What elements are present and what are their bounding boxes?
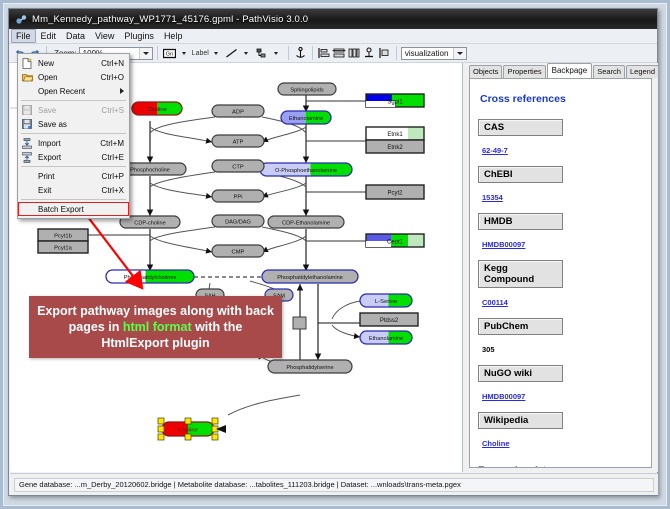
export-icon [20, 151, 34, 163]
menu-file[interactable]: File [11, 29, 36, 43]
svg-text:CDP-Ethanolamine: CDP-Ethanolamine [282, 221, 330, 227]
menu-item-open[interactable]: Open Ctrl+O [18, 70, 129, 84]
menu-item-open-recent[interactable]: Open Recent [18, 84, 129, 98]
menu-item-new-accel: Ctrl+N [101, 59, 124, 68]
callout-line-2a: pages in [69, 320, 123, 334]
menu-separator-2 [21, 133, 126, 134]
xref-value-kegg[interactable]: C00114 [482, 298, 508, 307]
svg-text:Cept1: Cept1 [387, 240, 404, 246]
interaction-dropdown-icon[interactable] [269, 46, 284, 61]
xref-value-cas[interactable]: 62-49-7 [482, 146, 508, 155]
toolbar-separator-4 [312, 46, 313, 60]
callout-line-2: pages in html format with the [69, 319, 243, 335]
blank-icon-3 [20, 184, 34, 196]
visualization-value: visualization [402, 49, 453, 58]
xref-value-wikipedia[interactable]: Choline [482, 439, 510, 448]
svg-text:Phosphatidylserine: Phosphatidylserine [286, 365, 333, 371]
menu-item-exit-label: Exit [38, 186, 102, 195]
blank-icon-4 [20, 203, 34, 215]
menu-plugins[interactable]: Plugins [119, 29, 159, 43]
svg-text:Ptdss2: Ptdss2 [380, 318, 399, 324]
menu-item-open-recent-label: Open Recent [38, 87, 120, 96]
file-menu-dropdown[interactable]: New Ctrl+N Open Ctrl+O Open Recent [17, 53, 130, 219]
toolbar-separator-2 [157, 46, 158, 60]
svg-text:O-Phosphoethanolamine: O-Phosphoethanolamine [275, 168, 337, 174]
tab-legend[interactable]: Legend [626, 65, 659, 78]
xref-header-kegg: Kegg Compound [478, 260, 563, 288]
chevron-down-icon[interactable] [139, 48, 152, 59]
svg-text:DAG/DAG: DAG/DAG [225, 220, 251, 226]
status-bar-inner: Gene database: ...m_Derby_20120602.bridg… [14, 478, 654, 492]
backpage-content: Cross references CAS 62-49-7 ChEBI 15354… [469, 78, 652, 468]
status-text: Gene database: ...m_Derby_20120602.bridg… [19, 480, 461, 489]
menu-item-import[interactable]: Import Ctrl+M [18, 136, 129, 150]
menu-item-new[interactable]: New Ctrl+N [18, 56, 129, 70]
gene-box-pcyt2: Pcyt2 [366, 185, 424, 199]
menu-separator-4 [21, 199, 126, 200]
gene-box-etnk2: Etnk2 [366, 140, 424, 153]
xref-value-pubchem: 305 [482, 345, 495, 354]
gene-box-cept1: Cept1 [366, 234, 424, 247]
svg-text:Etnk2: Etnk2 [387, 145, 403, 151]
node-atp: ATP [212, 135, 264, 147]
svg-text:L-Serine: L-Serine [375, 299, 397, 305]
svg-text:PPi: PPi [233, 195, 242, 201]
svg-text:CDP-choline: CDP-choline [134, 221, 165, 227]
menu-item-print-accel: Ctrl+P [102, 172, 124, 181]
xref-value-nugo[interactable]: HMDB00097 [482, 392, 525, 401]
gene-box-etnk1: Etnk1 [366, 127, 424, 140]
node-phosphatidylethanolamine: Phosphatidylethanolamine [262, 270, 358, 283]
callout-line-3: HtmlExport plugin [101, 335, 209, 351]
toolbar-separator-3 [288, 46, 289, 60]
svg-text:ADP: ADP [232, 110, 244, 116]
node-o-phosphoethanolamine: O-Phosphoethanolamine [260, 163, 352, 176]
pathvisio-icon [15, 13, 28, 26]
svg-text:Ethanolamine: Ethanolamine [289, 116, 323, 122]
menu-item-import-accel: Ctrl+M [100, 139, 124, 148]
status-bar: Gene database: ...m_Derby_20120602.bridg… [10, 473, 658, 495]
menu-separator-3 [21, 166, 126, 167]
svg-text:Etnk1: Etnk1 [387, 132, 403, 138]
new-file-icon [20, 57, 34, 69]
node-phosphatidylcholines: Phosphatidylcholines [106, 270, 194, 283]
callout-line-2b: with the [192, 320, 243, 334]
interaction-icon[interactable] [254, 46, 269, 61]
node-choline: Choline [132, 102, 182, 115]
svg-text:ATP: ATP [233, 140, 244, 146]
menu-item-exit-accel: Ctrl+X [102, 186, 124, 195]
node-cmp: CMP [212, 245, 264, 257]
pathvisio-window: Mm_Kennedy_pathway_WP1771_45176.gpml - P… [8, 8, 658, 496]
xref-header-chebi: ChEBI [478, 166, 563, 183]
xref-header-pubchem: PubChem [478, 318, 563, 335]
node-phosphatidylserine: Phosphatidylserine [268, 360, 352, 373]
svg-text:Ethanolamine: Ethanolamine [369, 336, 403, 342]
menu-item-export[interactable]: Export Ctrl+E [18, 150, 129, 164]
submenu-arrow-icon [120, 88, 124, 94]
svg-text:Pcyt1b: Pcyt1b [54, 234, 72, 240]
label-dropdown-icon[interactable] [209, 46, 224, 61]
svg-text:CMP: CMP [232, 250, 245, 256]
menu-item-export-label: Export [38, 153, 102, 162]
menu-item-print-label: Print [38, 172, 102, 181]
menu-item-batch-export-label: Batch Export [38, 205, 129, 214]
align-left-icon[interactable] [317, 46, 332, 61]
node-cdp-ethanolamine: CDP-Ethanolamine [268, 216, 344, 228]
menu-item-import-label: Import [38, 139, 100, 148]
menu-item-save-as[interactable]: Save as [18, 117, 129, 131]
gene-box-sgpl1: Sgpl1 [366, 94, 424, 107]
import-icon [20, 137, 34, 149]
tab-search[interactable]: Search [593, 65, 625, 78]
line-icon[interactable] [224, 46, 239, 61]
gene-box-ptdss2: Ptdss2 [360, 313, 418, 326]
align-middle-icon[interactable] [347, 46, 362, 61]
node-ethanolamine-top: Ethanolamine [281, 111, 331, 124]
node-choline-selected: Choline [158, 418, 226, 440]
datanode-icon[interactable]: Gn [162, 46, 177, 61]
side-panel: Objects Properties Backpage Search Legen… [463, 63, 658, 472]
xref-value-chebi[interactable]: 15354 [482, 193, 503, 202]
menu-item-save-label: Save [38, 106, 102, 115]
common-width-icon[interactable] [377, 46, 392, 61]
window-title: Mm_Kennedy_pathway_WP1771_45176.gpml - P… [32, 14, 308, 25]
svg-text:Phosphocholine: Phosphocholine [130, 168, 170, 174]
save-icon [20, 104, 34, 116]
folder-open-icon [20, 71, 34, 83]
menu-item-save-accel: Ctrl+S [102, 106, 124, 115]
menu-help[interactable]: Help [159, 29, 188, 43]
line-dropdown-icon[interactable] [239, 46, 254, 61]
menu-view[interactable]: View [90, 29, 119, 43]
title-bar: Mm_Kennedy_pathway_WP1771_45176.gpml - P… [9, 9, 657, 29]
xref-value-hmdb[interactable]: HMDB00097 [482, 240, 525, 249]
menu-separator-1 [21, 100, 126, 101]
node-ctp: CTP [212, 160, 264, 172]
callout-highlight: html format [123, 320, 192, 334]
menu-bar[interactable]: File Edit Data View Plugins Help [9, 29, 657, 44]
svg-text:Sgpl1: Sgpl1 [387, 100, 403, 106]
node-adp: ADP [212, 105, 264, 117]
label-tool-label: Label [192, 50, 209, 57]
tab-backpage[interactable]: Backpage [547, 63, 593, 78]
xref-header-nugo: NuGO wiki [478, 365, 563, 382]
xref-header-cas: CAS [478, 119, 563, 136]
align-center-icon[interactable] [332, 46, 347, 61]
menu-edit[interactable]: Edit [36, 29, 62, 43]
menu-item-save-as-label: Save as [38, 120, 124, 129]
chevron-down-icon-2[interactable] [453, 48, 466, 59]
menu-data[interactable]: Data [61, 29, 90, 43]
panel-tab-strip[interactable]: Objects Properties Backpage Search Legen… [463, 63, 658, 78]
svg-text:Pcyt2: Pcyt2 [387, 191, 403, 197]
svg-text:Phosphatidylcholines: Phosphatidylcholines [124, 275, 177, 281]
svg-text:Pcyt1a: Pcyt1a [54, 246, 72, 252]
anchor-icon[interactable] [293, 46, 308, 61]
expression-data-label: Expression data [478, 465, 643, 468]
menu-item-new-label: New [38, 59, 101, 68]
xref-header-wikipedia: Wikipedia [478, 412, 563, 429]
svg-text:CTP: CTP [232, 165, 244, 171]
menu-item-exit[interactable]: Exit Ctrl+X [18, 183, 129, 197]
menu-item-batch-export[interactable]: Batch Export [18, 202, 129, 216]
svg-text:Phosphatidylethanolamine: Phosphatidylethanolamine [277, 275, 343, 281]
xref-header-hmdb: HMDB [478, 213, 563, 230]
blank-icon-2 [20, 170, 34, 182]
tab-objects[interactable]: Objects [469, 65, 502, 78]
stack-icon[interactable] [362, 46, 377, 61]
node-sphingolipids: Sphingolipids [278, 83, 336, 95]
annotation-callout: Export pathway images along with back pa… [29, 296, 282, 358]
svg-text:Gn: Gn [165, 51, 172, 57]
gene-box-pcyt1a: Pcyt1a [38, 241, 88, 253]
cross-references-title: Cross references [480, 93, 643, 105]
menu-item-export-accel: Ctrl+E [102, 153, 124, 162]
tab-properties[interactable]: Properties [503, 65, 545, 78]
menu-item-save[interactable]: Save Ctrl+S [18, 103, 129, 117]
callout-line-1: Export pathway images along with back [37, 303, 274, 319]
save-as-icon [20, 118, 34, 130]
datanode-dropdown-icon[interactable] [177, 46, 192, 61]
node-l-serine: L-Serine [360, 294, 412, 307]
menu-item-print[interactable]: Print Ctrl+P [18, 169, 129, 183]
svg-text:Choline: Choline [178, 428, 198, 434]
gene-box-pcyt1b: Pcyt1b [38, 229, 88, 241]
screenshot-root: Mm_Kennedy_pathway_WP1771_45176.gpml - P… [0, 0, 670, 509]
visualization-combo[interactable]: visualization [401, 47, 467, 60]
node-ethanolamine-bottom: Ethanolamine [360, 331, 412, 344]
svg-text:Choline: Choline [147, 107, 167, 113]
svg-text:Sphingolipids: Sphingolipids [290, 88, 323, 94]
menu-item-open-accel: Ctrl+O [101, 73, 124, 82]
node-ppi: PPi [212, 190, 264, 202]
node-dag: DAG/DAG [212, 215, 264, 227]
blank-icon [20, 85, 34, 97]
menu-item-open-label: Open [38, 73, 101, 82]
toolbar-separator-5 [396, 46, 397, 60]
